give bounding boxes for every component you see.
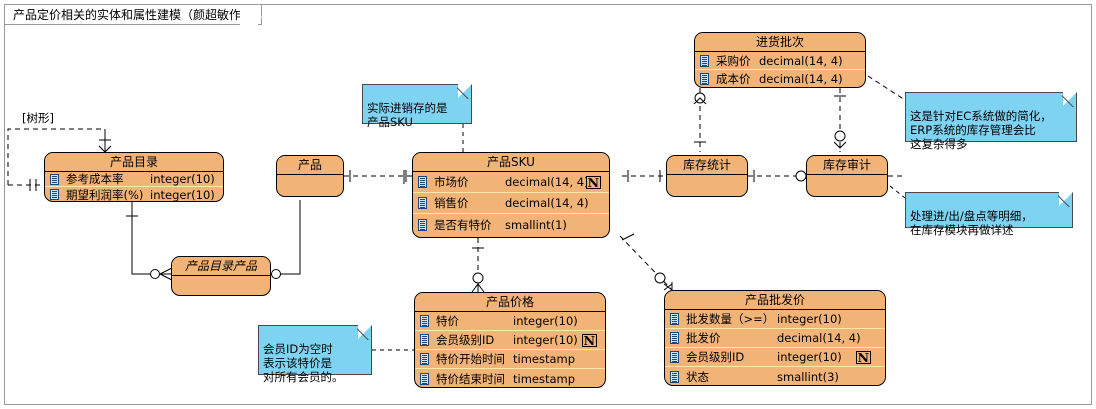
diagram-title: 产品定价相关的实体和属性建模（颜超敏作） xyxy=(13,6,253,23)
attr-row[interactable]: 状态 smallint(3) xyxy=(665,367,885,386)
attr-row[interactable]: 市场价 decimal(14, 4) N xyxy=(413,172,609,193)
attr-type: decimal(14, 4) xyxy=(505,175,589,189)
note-text: 会员ID为空时 表示该特价是 对所有会员的。 xyxy=(263,342,344,384)
entity-product-wholesale-price[interactable]: 产品批发价 批发数量（>=） integer(10) 批发价 decimal(1… xyxy=(664,290,886,386)
attr-name: 成本价 xyxy=(716,71,751,87)
attr-row[interactable]: 采购价 decimal(14, 4) xyxy=(695,52,865,70)
attr-type: decimal(14, 4) xyxy=(777,331,861,345)
entity-title: 产品目录 xyxy=(45,153,223,172)
entity-inventory-audit[interactable]: 库存审计 xyxy=(806,155,888,197)
attr-name: 特价结束时间 xyxy=(436,371,505,387)
attr-type: smallint(3) xyxy=(777,370,839,384)
attr-name: 批发数量（>=） xyxy=(686,311,774,327)
entity-attributes: 批发数量（>=） integer(10) 批发价 decimal(14, 4) … xyxy=(665,310,885,386)
column-icon xyxy=(420,315,429,327)
entity-title: 库存统计 xyxy=(667,156,747,175)
attr-name: 会员级别ID xyxy=(436,332,494,348)
attr-row[interactable]: 销售价 decimal(14, 4) xyxy=(413,193,609,214)
column-icon xyxy=(670,351,679,363)
attr-name: 期望利润率(%) xyxy=(66,187,143,203)
column-icon xyxy=(418,176,427,188)
attr-name: 采购价 xyxy=(716,53,751,69)
attr-name: 特价开始时间 xyxy=(436,351,505,367)
note-sku[interactable]: 实际进销存的是 产品SKU xyxy=(362,84,472,124)
column-icon xyxy=(670,371,679,383)
column-icon xyxy=(50,174,59,185)
attr-type: integer(10) xyxy=(150,188,215,202)
entity-attributes: 特价 integer(10) 会员级别ID integer(10) N 特价开始… xyxy=(415,312,605,388)
attr-row[interactable]: 成本价 decimal(14, 4) xyxy=(695,70,865,88)
attr-name: 状态 xyxy=(686,369,709,385)
tree-relationship-label: [树形] xyxy=(22,110,54,126)
attr-row[interactable]: 参考成本率 integer(10) xyxy=(45,172,223,187)
attr-name: 参考成本率 xyxy=(66,171,124,187)
entity-title: 产品批发价 xyxy=(665,291,885,310)
column-icon xyxy=(418,219,427,231)
entity-title: 库存审计 xyxy=(807,156,887,175)
column-icon xyxy=(418,197,427,209)
attr-name: 销售价 xyxy=(434,195,469,211)
diagram-title-tab: 产品定价相关的实体和属性建模（颜超敏作） xyxy=(4,4,262,25)
attr-name: 市场价 xyxy=(434,174,469,190)
attr-row[interactable]: 会员级别ID integer(10) N xyxy=(665,348,885,367)
attr-row[interactable]: 特价 integer(10) xyxy=(415,312,605,331)
entity-attributes: 采购价 decimal(14, 4) 成本价 decimal(14, 4) xyxy=(695,52,865,88)
column-icon xyxy=(700,55,709,67)
column-icon xyxy=(420,373,429,385)
entity-title: 产品SKU xyxy=(413,153,609,172)
note-fold-edge xyxy=(1062,92,1077,107)
column-icon xyxy=(420,353,429,365)
entity-attributes: 市场价 decimal(14, 4) N 销售价 decimal(14, 4) … xyxy=(413,172,609,235)
entity-product-catalog[interactable]: 产品目录 参考成本率 integer(10) 期望利润率(%) integer(… xyxy=(44,152,224,202)
attr-name: 批发价 xyxy=(686,330,721,346)
erd-canvas: 产品定价相关的实体和属性建模（颜超敏作） xyxy=(0,0,1096,409)
nullable-marker: N xyxy=(586,176,601,189)
attr-name: 是否有特价 xyxy=(434,217,492,233)
column-icon xyxy=(420,334,429,346)
column-icon xyxy=(700,73,709,85)
attr-name: 特价 xyxy=(436,313,459,329)
entity-title: 进货批次 xyxy=(695,33,865,52)
attr-row[interactable]: 是否有特价 smallint(1) xyxy=(413,214,609,235)
attr-row[interactable]: 特价结束时间 timestamp xyxy=(415,369,605,388)
attr-type: decimal(14, 4) xyxy=(505,196,589,210)
entity-product-price[interactable]: 产品价格 特价 integer(10) 会员级别ID integer(10) N… xyxy=(414,292,606,388)
entity-title: 产品价格 xyxy=(415,293,605,312)
attr-type: integer(10) xyxy=(513,333,578,347)
column-icon xyxy=(50,189,59,200)
attr-type: integer(10) xyxy=(777,350,842,364)
nullable-marker: N xyxy=(856,351,871,364)
attr-type: integer(10) xyxy=(150,172,215,186)
entity-inventory-stat[interactable]: 库存统计 xyxy=(666,155,748,197)
tab-corner-shape xyxy=(240,4,262,26)
column-icon xyxy=(670,332,679,344)
attr-row[interactable]: 批发数量（>=） integer(10) xyxy=(665,310,885,329)
nullable-marker: N xyxy=(582,334,597,347)
attr-name: 会员级别ID xyxy=(686,349,744,365)
column-icon xyxy=(670,313,679,325)
attr-type: timestamp xyxy=(513,372,575,386)
entity-product[interactable]: 产品 xyxy=(276,155,344,197)
attr-row[interactable]: 期望利润率(%) integer(10) xyxy=(45,187,223,202)
entity-attributes: 参考成本率 integer(10) 期望利润率(%) integer(10) xyxy=(45,172,223,202)
attr-type: decimal(14, 4) xyxy=(759,72,843,86)
attr-type: timestamp xyxy=(513,352,575,366)
note-ec-simplification[interactable]: 这是针对EC系统做的简化， ERP系统的库存管理会比 这复杂得多 xyxy=(905,92,1077,142)
entity-catalog-product[interactable]: 产品目录产品 xyxy=(171,256,271,296)
note-inventory-detail[interactable]: 处理进/出/盘点等明细， 在库存模块再做详述 xyxy=(905,192,1073,228)
note-fold-edge xyxy=(1058,192,1073,207)
note-fold-edge xyxy=(357,325,372,340)
note-member-id[interactable]: 会员ID为空时 表示该特价是 对所有会员的。 xyxy=(258,325,372,375)
entity-title: 产品目录产品 xyxy=(172,257,270,276)
entity-product-sku[interactable]: 产品SKU 市场价 decimal(14, 4) N 销售价 decimal(1… xyxy=(412,152,610,238)
attr-row[interactable]: 会员级别ID integer(10) N xyxy=(415,331,605,350)
entity-title: 产品 xyxy=(277,156,343,175)
attr-type: decimal(14, 4) xyxy=(759,54,843,68)
attr-row[interactable]: 批发价 decimal(14, 4) xyxy=(665,329,885,348)
attr-type: smallint(1) xyxy=(505,218,567,232)
attr-row[interactable]: 特价开始时间 timestamp xyxy=(415,350,605,369)
attr-type: integer(10) xyxy=(513,314,578,328)
attr-type: integer(10) xyxy=(777,312,842,326)
entity-purchase-batch[interactable]: 进货批次 采购价 decimal(14, 4) 成本价 decimal(14, … xyxy=(694,32,866,88)
frame-top-line xyxy=(256,4,1092,5)
note-fold-edge xyxy=(457,84,472,99)
